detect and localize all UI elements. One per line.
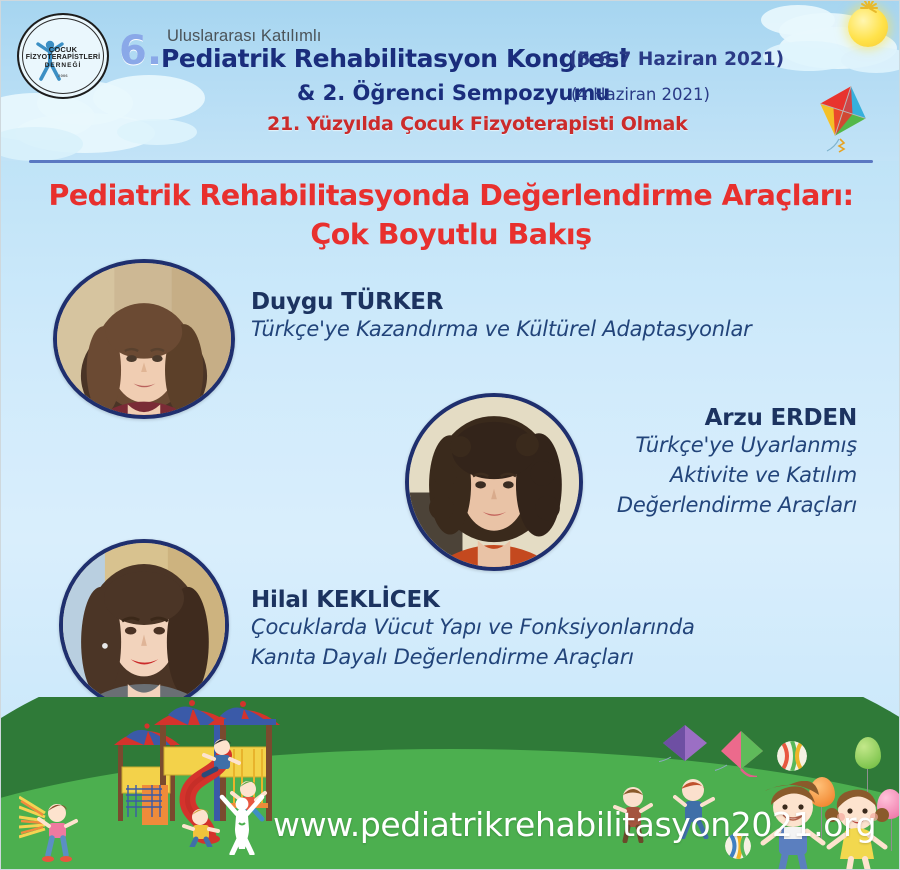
speaker-topic-line: Türkçe'ye Kazandırma ve Kültürel Adaptas… bbox=[251, 315, 752, 345]
logo-line-4: 2006 bbox=[19, 73, 107, 78]
congress-date: (5-6-7 Haziran 2021) bbox=[569, 49, 784, 70]
speaker-topic-line: Kanıta Dayalı Değerlendirme Araçları bbox=[251, 643, 695, 673]
speaker-topic-line: Aktivite ve Katılım bbox=[617, 461, 857, 491]
cloud-icon bbox=[761, 5, 835, 35]
ball-icon bbox=[777, 741, 807, 771]
kite-icon bbox=[809, 81, 879, 159]
website-row[interactable]: www.pediatrikrehabilitasyon2021.org bbox=[219, 793, 876, 855]
speaker-name: Duygu TÜRKER bbox=[251, 289, 752, 315]
symposium-date: (4 Haziran 2021) bbox=[571, 85, 710, 104]
congress-poster: ÇOCUK FİZYOTERAPİSTLERİ DERNEĞİ 2006 6. … bbox=[0, 0, 900, 870]
portrait-arzu-erden bbox=[405, 393, 583, 571]
human-figure-icon bbox=[219, 793, 265, 855]
poster-footer-scene: www.pediatrikrehabilitasyon2021.org bbox=[1, 697, 900, 869]
session-title: Pediatrik Rehabilitasyonda Değerlendirme… bbox=[1, 177, 900, 255]
balloon-icon bbox=[855, 737, 881, 769]
cloud-icon bbox=[841, 47, 900, 73]
poster-header: ÇOCUK FİZYOTERAPİSTLERİ DERNEĞİ 2006 6. … bbox=[1, 1, 900, 161]
sun-icon bbox=[848, 7, 888, 47]
speaker-name: Hilal KEKLİCEK bbox=[251, 587, 695, 613]
cloud-icon bbox=[117, 119, 197, 145]
portrait-duygu-turker bbox=[53, 259, 235, 419]
symposium-title: & 2. Öğrenci Sempozyumu bbox=[297, 81, 610, 105]
speaker-block-arzu-erden: Arzu ERDEN Türkçe'ye Uyarlanmış Aktivite… bbox=[617, 405, 857, 520]
speaker-topic-line: Türkçe'ye Uyarlanmış bbox=[617, 431, 857, 461]
congress-ordinal: 6. bbox=[119, 31, 162, 71]
session-title-line-1: Pediatrik Rehabilitasyonda Değerlendirme… bbox=[48, 179, 853, 212]
logo-line-2: FİZYOTERAPİSTLERİ bbox=[19, 54, 107, 61]
kite-icon bbox=[715, 729, 771, 782]
association-logo: ÇOCUK FİZYOTERAPİSTLERİ DERNEĞİ 2006 bbox=[17, 13, 109, 99]
speaker-block-duygu-turker: Duygu TÜRKER Türkçe'ye Kazandırma ve Kül… bbox=[251, 289, 752, 345]
website-url[interactable]: www.pediatrikrehabilitasyon2021.org bbox=[273, 805, 876, 844]
congress-theme: 21. Yüzyılda Çocuk Fizyoterapisti Olmak bbox=[267, 113, 688, 135]
congress-title: Pediatrik Rehabilitasyon Kongresi bbox=[161, 44, 627, 73]
logo-line-3: DERNEĞİ bbox=[19, 62, 107, 69]
kite-icon bbox=[659, 723, 711, 772]
header-divider bbox=[29, 160, 873, 163]
session-title-line-2: Çok Boyutlu Bakış bbox=[1, 216, 900, 255]
speaker-name: Arzu ERDEN bbox=[617, 405, 857, 431]
cloud-icon bbox=[1, 127, 83, 161]
portrait-hilal-keklicek bbox=[59, 539, 229, 711]
speaker-topic-line: Çocuklarda Vücut Yapı ve Fonksiyonlarınd… bbox=[251, 613, 695, 643]
children-icon bbox=[19, 795, 89, 869]
speaker-topic-line: Değerlendirme Araçları bbox=[617, 491, 857, 521]
speaker-block-hilal-keklicek: Hilal KEKLİCEK Çocuklarda Vücut Yapı ve … bbox=[251, 587, 695, 673]
